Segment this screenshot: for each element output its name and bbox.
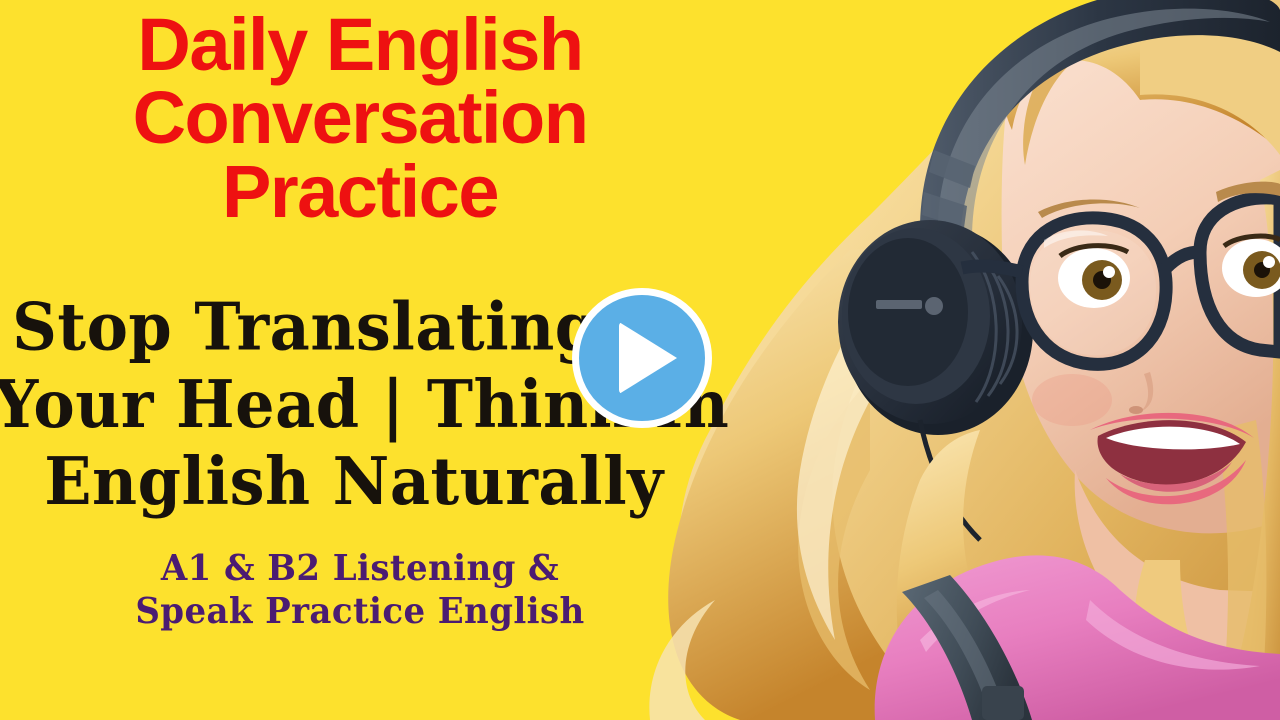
subtitle-line-1: A1 & B2 Listening &	[0, 548, 720, 591]
title-line-2: Conversation	[0, 81, 720, 154]
nostril	[1129, 406, 1143, 414]
cheek-blush	[1032, 374, 1112, 426]
backpack-strap-buckle	[982, 686, 1024, 720]
video-thumbnail: Daily English Conversation Practice Stop…	[0, 0, 1280, 720]
subtitle: A1 & B2 Listening & Speak Practice Engli…	[0, 548, 720, 634]
subtitle-line-2: Speak Practice English	[0, 591, 720, 634]
play-button[interactable]	[572, 288, 712, 428]
play-icon	[619, 322, 677, 394]
headphone-earcup-face	[848, 238, 968, 386]
glasses-temple-arm	[962, 266, 1022, 272]
headline-line-3: English Naturally	[0, 443, 714, 521]
page-title: Daily English Conversation Practice	[0, 8, 720, 228]
title-line-1: Daily English	[0, 8, 720, 81]
title-line-3: Practice	[0, 155, 720, 228]
